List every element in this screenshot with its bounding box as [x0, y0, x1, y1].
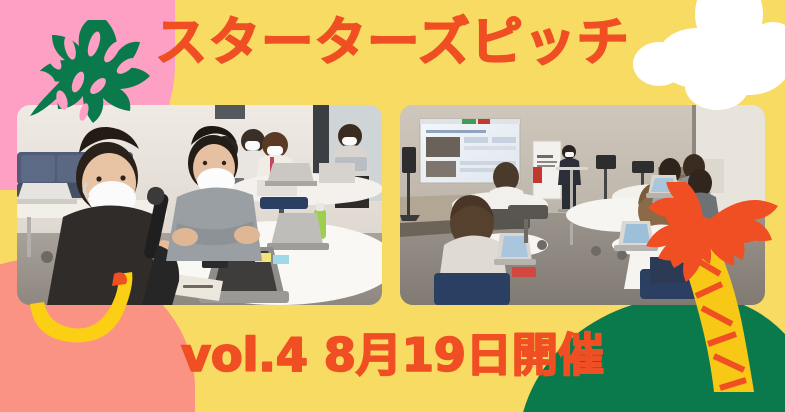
page-title: スターターズピッチ	[0, 16, 785, 71]
photo-panel-discussion-image	[17, 105, 382, 305]
event-poster: スターターズピッチ vol.4 8月19日開催	[0, 0, 785, 412]
photo-panel-discussion	[17, 105, 382, 305]
event-date-subtitle: vol.4 8月19日開催	[0, 331, 785, 379]
photo-presentation-room-image	[400, 105, 765, 305]
photo-presentation-room	[400, 105, 765, 305]
